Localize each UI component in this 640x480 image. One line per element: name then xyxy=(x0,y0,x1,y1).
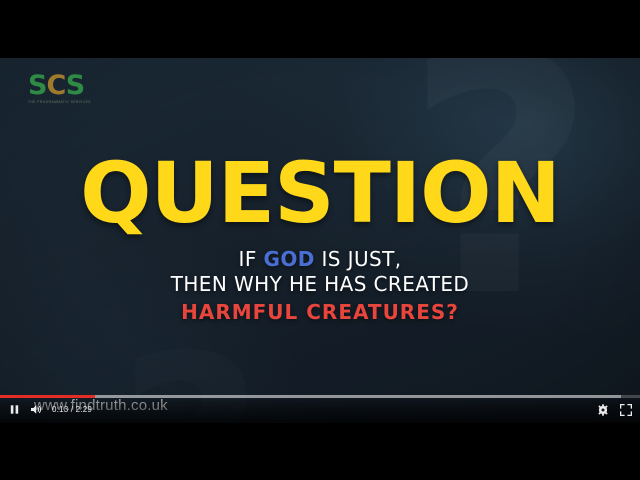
video-frame: ? ? SCS THE PROGRAMMATIC SERVICES QUESTI… xyxy=(0,58,640,423)
time-display: 0:13 / 2:29 xyxy=(52,405,92,414)
logo-letter-c: C xyxy=(46,70,65,101)
progress-bar[interactable] xyxy=(0,395,640,398)
scs-logo: SCS THE PROGRAMMATIC SERVICES xyxy=(28,72,108,112)
controls-right-group xyxy=(596,403,632,416)
pause-button[interactable] xyxy=(8,403,21,416)
logo-wordmark: SCS xyxy=(28,72,108,99)
subtitle-line-1-before: IF xyxy=(239,247,264,271)
subtitle-line-2: THEN WHY HE HAS CREATED xyxy=(0,272,640,297)
logo-letter-s2: S xyxy=(66,70,84,101)
controls-left-group: 0:13 / 2:29 xyxy=(8,403,92,416)
volume-icon[interactable] xyxy=(30,403,43,416)
subtitle-line-1: IF GOD IS JUST, xyxy=(0,247,640,272)
subtitle-block: IF GOD IS JUST, THEN WHY HE HAS CREATED … xyxy=(0,247,640,325)
subtitle-line-1-after: IS JUST, xyxy=(315,247,402,271)
logo-tagline: THE PROGRAMMATIC SERVICES xyxy=(28,100,108,104)
video-player[interactable]: ? ? SCS THE PROGRAMMATIC SERVICES QUESTI… xyxy=(0,0,640,480)
gear-icon[interactable] xyxy=(596,403,609,416)
subtitle-word-god: GOD xyxy=(264,247,315,271)
player-control-bar[interactable]: 0:13 / 2:29 xyxy=(0,395,640,423)
fullscreen-icon[interactable] xyxy=(619,403,632,416)
logo-letter-s1: S xyxy=(28,70,46,101)
subtitle-line-3: HARMFUL CREATURES? xyxy=(0,300,640,325)
headline-question: QUESTION xyxy=(0,154,640,234)
progress-played xyxy=(0,395,95,398)
